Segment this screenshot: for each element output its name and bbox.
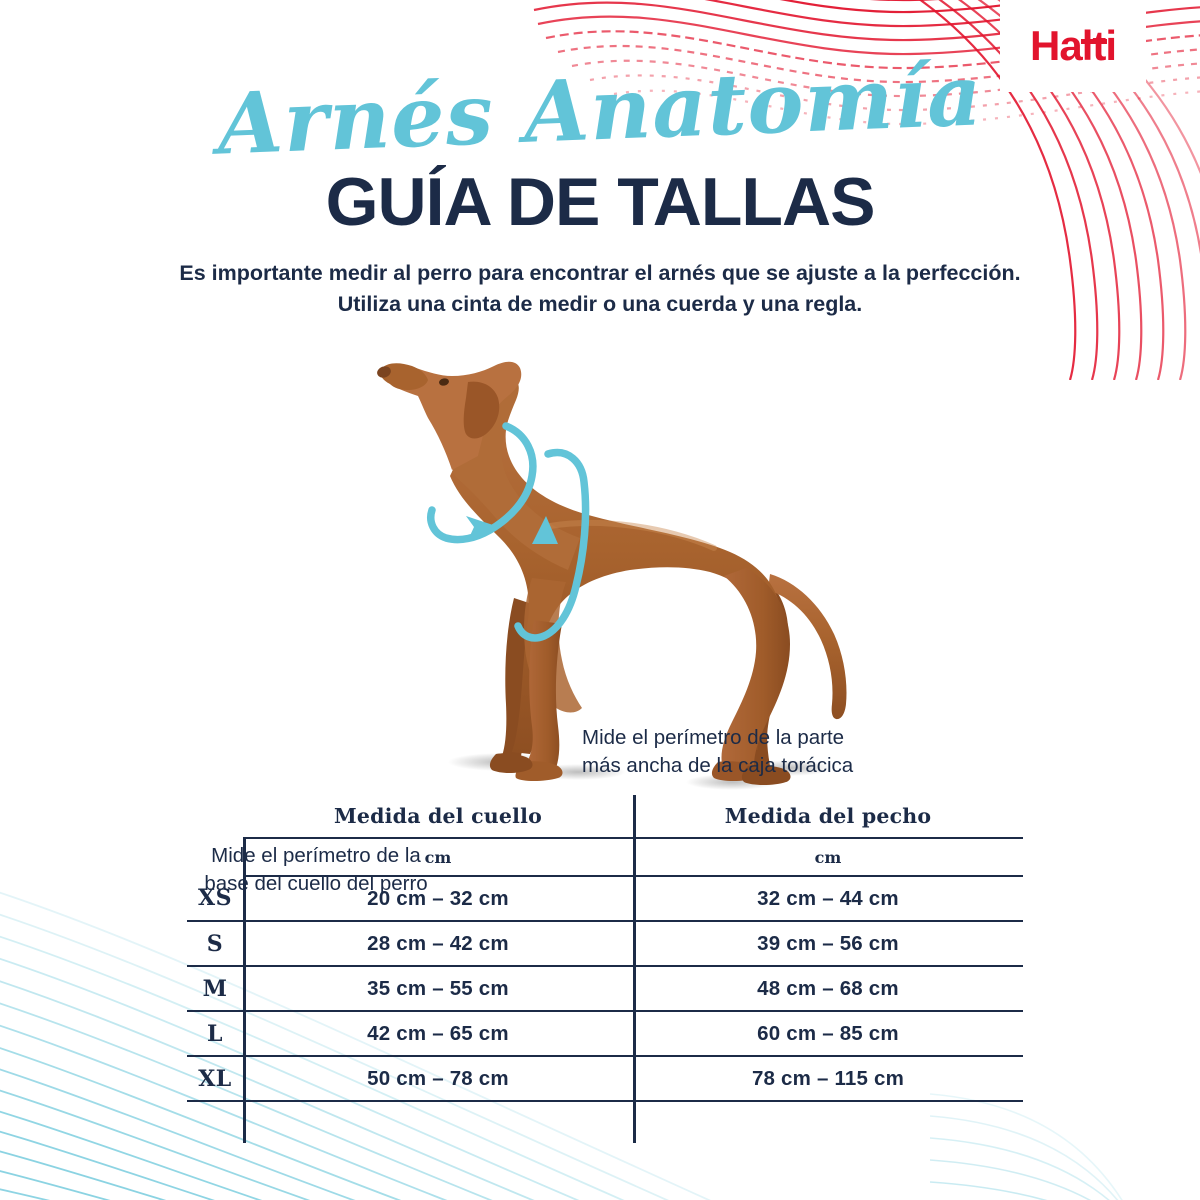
row-neck-value: 28 cm – 42 cm	[243, 921, 633, 966]
row-neck-value: 20 cm – 32 cm	[243, 876, 633, 921]
row-neck-value: 35 cm – 55 cm	[243, 966, 633, 1011]
callout-chest: Mide el perímetro de la parte más ancha …	[582, 724, 902, 779]
size-guide-page: Halti Arnés Anatomía GUÍA DE TALLAS Es i…	[0, 0, 1200, 1200]
row-size-label: XL	[187, 1056, 243, 1101]
logo-text-ha: Ha	[1030, 22, 1082, 69]
table-group-header-row: Medida del cuello Medida del pecho	[187, 795, 1023, 838]
row-neck-value: 42 cm – 65 cm	[243, 1011, 633, 1056]
brand-logo-text: Halti	[1030, 25, 1116, 67]
callout-chest-line-1: Mide el perímetro de la parte	[582, 724, 902, 752]
table-row: S 28 cm – 42 cm 39 cm – 56 cm	[187, 921, 1023, 966]
table-group-header-chest: Medida del pecho	[633, 795, 1023, 838]
brand-logo: Halti	[1000, 0, 1146, 92]
callout-chest-line-2: más ancha de la caja torácica	[582, 752, 902, 780]
row-chest-value: 78 cm – 115 cm	[633, 1056, 1023, 1101]
subtitle-line-1: Es importante medir al perro para encont…	[100, 258, 1100, 289]
row-size-label: XS	[187, 876, 243, 921]
table-group-header-blank	[187, 795, 243, 838]
table-unit-header-row: cm cm	[187, 838, 1023, 876]
table-unit-blank	[187, 838, 243, 876]
dog-illustration-area: Mide el perímetro de la base del cuello …	[0, 330, 1200, 790]
subtitle-line-2: Utiliza una cinta de medir o una cuerda …	[100, 289, 1100, 320]
table-group-header-neck: Medida del cuello	[243, 795, 633, 838]
table-row: XL 50 cm – 78 cm 78 cm – 115 cm	[187, 1056, 1023, 1101]
row-chest-value: 32 cm – 44 cm	[633, 876, 1023, 921]
row-size-label: S	[187, 921, 243, 966]
logo-text-lt: lt	[1082, 22, 1106, 69]
table-divider-middle	[633, 795, 636, 1143]
row-size-label: L	[187, 1011, 243, 1056]
table-unit-chest: cm	[633, 838, 1023, 876]
subtitle: Es importante medir al perro para encont…	[100, 258, 1100, 319]
row-neck-value: 50 cm – 78 cm	[243, 1056, 633, 1101]
logo-text-i: i	[1105, 22, 1116, 69]
logo-lt-ligature: lt	[1082, 25, 1106, 67]
size-table-wrapper: Medida del cuello Medida del pecho cm cm…	[187, 795, 1023, 1143]
table-row: XS 20 cm – 32 cm 32 cm – 44 cm	[187, 876, 1023, 921]
logo-crossbar-icon	[1081, 39, 1107, 44]
page-title: GUÍA DE TALLAS	[0, 168, 1200, 236]
size-table: Medida del cuello Medida del pecho cm cm…	[187, 795, 1023, 1102]
row-chest-value: 48 cm – 68 cm	[633, 966, 1023, 1011]
table-row: L 42 cm – 65 cm 60 cm – 85 cm	[187, 1011, 1023, 1056]
table-divider-left	[243, 837, 246, 1143]
row-chest-value: 39 cm – 56 cm	[633, 921, 1023, 966]
row-size-label: M	[187, 966, 243, 1011]
table-row: M 35 cm – 55 cm 48 cm – 68 cm	[187, 966, 1023, 1011]
table-unit-neck: cm	[243, 838, 633, 876]
measurement-arrows	[300, 330, 860, 790]
row-chest-value: 60 cm – 85 cm	[633, 1011, 1023, 1056]
